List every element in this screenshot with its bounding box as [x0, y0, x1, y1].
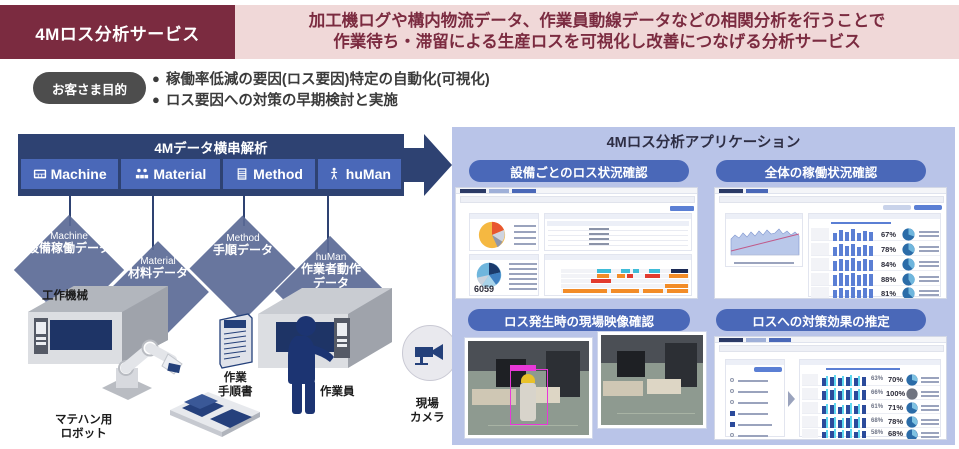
bar-chart-equipment [832, 287, 878, 298]
card-header [545, 255, 691, 260]
effect-after-value: 78% [888, 417, 903, 426]
camera-callout-bubble [402, 325, 458, 381]
objective-item-label: ロス要因への対策の早期検討と実施 [166, 91, 398, 112]
bullet-icon: ● [152, 91, 160, 110]
video-floor-marking [617, 413, 695, 423]
gantt-bar [627, 274, 633, 278]
checkbox-icon [730, 411, 735, 416]
legend-row [509, 268, 537, 270]
bar-chart-equipment [832, 273, 878, 286]
worker-illustration [282, 315, 338, 415]
gantt-bar [643, 289, 663, 293]
donut-chart-effect [906, 402, 918, 414]
equipment-row[interactable]: 88% [811, 272, 940, 286]
table-cell-chip [589, 243, 609, 245]
legend-row [921, 377, 939, 379]
gantt-row-band [561, 279, 689, 283]
effect-row[interactable]: 58% 68% [802, 429, 940, 438]
panel-caption-label: ロス発生時の現場映像確認 [504, 311, 654, 330]
app-tab[interactable] [769, 338, 791, 342]
analysis-button-material[interactable]: Material [121, 159, 220, 189]
equipment-row[interactable]: 78% [811, 242, 940, 256]
objective-list: ● 稼働率低減の要因(ロス要因)特定の自動化(可視化) ● ロス要因への対策の早… [152, 70, 652, 112]
donut-chart-effect [906, 416, 918, 428]
video-worktable [603, 381, 643, 396]
effect-after-value: 68% [888, 429, 903, 438]
legend-row [921, 395, 939, 397]
effect-before-value: 68% [871, 418, 883, 424]
legend-row [509, 263, 537, 265]
subtitle-line-1: 加工機ログや構内物流データ、作業員動線データなどの相関分析を行うことで [309, 11, 886, 32]
analysis-button-human[interactable]: huMan [318, 159, 401, 189]
video-camera-icon [413, 341, 447, 365]
row-label-block [811, 287, 829, 298]
card-header [726, 214, 802, 219]
machine-icon [33, 167, 47, 181]
row-label-block [811, 228, 829, 240]
legend-row [514, 225, 536, 227]
analysis-button-label: Machine [51, 166, 107, 182]
effect-before-value: 61% [871, 404, 883, 410]
factory-label-robot: マテハン用 ロボット [55, 400, 112, 441]
app-primary-button[interactable] [914, 205, 942, 210]
filter-option-selected[interactable] [730, 409, 782, 418]
equipment-row[interactable]: 67% [811, 227, 940, 241]
objective-pill: お客さま目的 [33, 72, 146, 104]
utilization-value: 67% [881, 230, 896, 239]
objective-item-label: 稼働率低減の要因(ロス要因)特定の自動化(可視化) [166, 70, 490, 91]
effect-before-value: 58% [871, 430, 883, 436]
gantt-bar [597, 274, 609, 278]
camera-frame-left[interactable] [465, 338, 592, 438]
panel-caption-effect-estimation[interactable]: ロスへの対策効果の推定 [716, 309, 926, 331]
table-card-loss-list [544, 213, 692, 251]
flow-arrow-icon [788, 391, 795, 407]
right-arrow-icon [396, 134, 452, 196]
utilization-value: 88% [881, 275, 896, 284]
row-label-block [802, 416, 818, 427]
camera-frame-right[interactable] [598, 332, 706, 428]
app-action-button[interactable] [883, 205, 911, 210]
factory-label-text: 作業員 [320, 386, 355, 398]
filter-apply-button[interactable] [754, 367, 782, 372]
bar-chart-before-after [821, 374, 869, 386]
legend-row [921, 419, 939, 421]
method-icon [235, 167, 249, 181]
legend-row [514, 231, 536, 233]
legend-row [831, 222, 891, 224]
legend-row [919, 246, 939, 248]
legend-row [514, 243, 536, 245]
factory-label-manual: 作業 手順書 [218, 358, 253, 399]
subtitle-line-2: 作業待ち・滞留による生産ロスを可視化し改善につなげる分析サービス [333, 32, 861, 53]
donut-chart-equipment [902, 273, 915, 286]
filter-option-selected[interactable] [730, 420, 782, 429]
legend-row [509, 273, 537, 275]
card-header [470, 214, 538, 219]
chart-card-utilization-trend [725, 213, 803, 267]
service-title-text: 4Mロス分析サービス [35, 20, 200, 45]
legend-row [921, 409, 939, 411]
card-header [809, 214, 940, 219]
panel-caption-camera-playback[interactable]: ロス発生時の現場映像確認 [468, 309, 690, 331]
legend-row [921, 423, 939, 425]
table-header-row [547, 221, 689, 226]
radio-icon [730, 378, 734, 382]
effect-after-value: 70% [888, 375, 903, 384]
results-card-effect: 63% 70% 66% 100% [799, 359, 941, 437]
objective-item: ● ロス要因への対策の早期検討と実施 [152, 91, 652, 112]
service-subtitle: 加工機ログや構内物流データ、作業員動線データなどの相関分析を行うことで 作業待ち… [235, 5, 959, 59]
bullet-icon: ● [152, 70, 160, 89]
app-tab[interactable] [746, 189, 768, 193]
factory-label-text: 作業 手順書 [218, 372, 253, 398]
effect-row[interactable]: 66% 100% [802, 387, 940, 400]
row-label-block [802, 429, 818, 438]
app-tab[interactable] [489, 189, 509, 193]
table-row [548, 235, 688, 236]
panel-caption-label: ロスへの対策効果の推定 [752, 311, 890, 330]
legend-row [509, 288, 537, 290]
objective-pill-label: お客さま目的 [52, 79, 127, 98]
app-tab[interactable] [746, 338, 766, 342]
gantt-card-loss-timeline [544, 254, 692, 296]
app-filter-bar[interactable] [719, 196, 944, 203]
factory-label-text: 現場 カメラ [410, 398, 445, 424]
legend-row [509, 278, 537, 280]
filter-option[interactable] [730, 431, 782, 440]
panel-caption-overall-utilization[interactable]: 全体の稼働状況確認 [716, 160, 926, 182]
connector-stem [152, 196, 154, 250]
donut-chart-equipment [902, 243, 915, 256]
factory-label-text: 工作機械 [42, 290, 88, 302]
area-chart-utilization [729, 221, 801, 261]
effect-after-value: 100% [886, 389, 905, 398]
donut-chart-equipment [902, 287, 915, 299]
app-filter-bar[interactable] [719, 345, 944, 352]
chart-card-operation-breakdown: 6059 [469, 254, 539, 296]
legend-row [921, 381, 939, 383]
legend-row [826, 368, 900, 370]
table-cell-chip [589, 238, 609, 240]
donut-chart-equipment [902, 258, 915, 271]
donut-chart-effect [906, 374, 918, 386]
service-title-badge: 4Mロス分析サービス [0, 5, 235, 59]
row-label-block [811, 258, 829, 270]
legend-row [921, 391, 939, 393]
legend-row [921, 436, 939, 438]
analysis-title: 4Mデータ横串解析 [18, 137, 404, 157]
gantt-bar [617, 274, 625, 278]
table-cell-chip [589, 228, 609, 230]
legend-row [919, 265, 939, 267]
app-tab-active[interactable] [460, 189, 486, 193]
filter-option[interactable] [730, 376, 782, 385]
video-worktable [647, 379, 681, 394]
equipment-row[interactable]: 84% [811, 257, 940, 271]
legend-row [919, 261, 939, 263]
gantt-bar [563, 289, 607, 293]
radio-icon [730, 389, 734, 393]
row-label-block [802, 402, 818, 413]
analysis-button-label: huMan [346, 166, 391, 182]
objective-item: ● 稼働率低減の要因(ロス要因)特定の自動化(可視化) [152, 70, 652, 91]
utilization-value: 78% [881, 245, 896, 254]
effect-row[interactable]: 61% 71% [802, 401, 940, 414]
effect-after-value: 71% [888, 403, 903, 412]
panel-caption-loss-status[interactable]: 設備ごとのロス状況確認 [469, 160, 689, 182]
legend-row [919, 290, 939, 292]
effect-row[interactable]: 63% 70% [802, 373, 940, 386]
gantt-bar [645, 274, 660, 278]
filter-option-label [738, 402, 768, 404]
screenshot-effect-estimation[interactable]: 63% 70% 66% 100% [714, 336, 947, 440]
legend-row [921, 405, 939, 407]
pie-chart-loss [473, 220, 511, 250]
bar-chart-before-after [821, 429, 869, 438]
table-row [548, 230, 688, 231]
table-row [548, 240, 688, 241]
row-label-block [811, 273, 829, 285]
legend-row [919, 235, 939, 237]
analysis-button-group: Machine Material Method [21, 159, 401, 189]
gantt-bar [597, 269, 611, 273]
card-header [470, 255, 538, 260]
checkbox-icon [730, 422, 735, 427]
gantt-bar [667, 289, 688, 293]
analysis-button-method[interactable]: Method [223, 159, 314, 189]
factory-floor-video [468, 341, 589, 435]
filter-option-label [738, 435, 768, 437]
filter-option[interactable] [730, 387, 782, 396]
video-worker-helmet [521, 374, 535, 383]
app-tab-active[interactable] [719, 338, 743, 342]
video-worker-body [520, 383, 536, 421]
legend-row [919, 250, 939, 252]
legend-row [919, 276, 939, 278]
row-label-block [802, 374, 818, 385]
card-header [800, 360, 940, 365]
video-machine [617, 351, 645, 377]
legend-row [509, 283, 537, 285]
panel-caption-label: 全体の稼働状況確認 [765, 162, 878, 181]
app-tab-active[interactable] [719, 189, 743, 193]
bar-chart-before-after [821, 402, 869, 414]
analysis-button-label: Method [253, 166, 303, 182]
analysis-button-label: Material [153, 166, 206, 182]
filter-option-label [738, 391, 768, 393]
analysis-button-machine[interactable]: Machine [21, 159, 118, 189]
legend-row [919, 231, 939, 233]
row-label-block [802, 388, 818, 399]
bar-chart-equipment [832, 243, 878, 256]
app-export-button[interactable] [670, 206, 694, 211]
filter-option[interactable] [730, 398, 782, 407]
equipment-row[interactable]: 81% [811, 287, 940, 298]
factory-label-camera: 現場 カメラ [410, 384, 445, 425]
filter-option-label [738, 424, 772, 426]
chart-card-loss-breakdown [469, 213, 539, 251]
legend-row [919, 280, 939, 282]
legend-row [921, 432, 939, 434]
radio-icon [730, 433, 734, 437]
utilization-value: 84% [881, 260, 896, 269]
material-icon [135, 167, 149, 181]
kpi-value: 6059 [474, 284, 494, 294]
card-header [726, 360, 784, 365]
table-cell-chip [589, 233, 609, 235]
donut-chart-effect [906, 388, 918, 400]
filter-option-label [738, 413, 768, 415]
gantt-bar [633, 269, 639, 273]
panel-caption-label: 設備ごとのロス状況確認 [510, 162, 647, 181]
video-floor-marking [488, 425, 578, 437]
human-icon [328, 167, 342, 181]
detection-label [510, 365, 536, 371]
bar-chart-equipment [832, 228, 878, 241]
gantt-bar [649, 269, 660, 273]
bar-chart-before-after [821, 416, 869, 428]
gantt-bar [591, 279, 611, 283]
legend-row [514, 237, 536, 239]
row-label-block [811, 243, 829, 255]
legend-row [734, 262, 794, 264]
legend-row [919, 294, 939, 296]
list-card-equipment-utilization: 67% 78% [808, 213, 941, 297]
factory-label-text: マテハン用 ロボット [55, 414, 112, 440]
donut-chart-effect [906, 429, 918, 440]
gantt-bar [669, 274, 688, 278]
donut-chart-equipment [902, 228, 915, 241]
radio-icon [730, 400, 734, 404]
factory-floor-video [601, 335, 703, 425]
app-tab[interactable] [512, 189, 536, 193]
bar-chart-equipment [832, 258, 878, 271]
application-title: 4Mロス分析アプリケーション [452, 131, 955, 152]
utilization-value: 81% [881, 289, 896, 298]
effect-row[interactable]: 68% 78% [802, 415, 940, 428]
gantt-bar [611, 289, 639, 293]
app-filter-bar[interactable] [460, 196, 695, 203]
table-row [548, 245, 688, 246]
screenshot-loss-dashboard[interactable]: 6059 [455, 187, 698, 299]
factory-label-machine-tool: 工作機械 [42, 290, 88, 304]
filter-card-countermeasures [725, 359, 785, 437]
card-header [545, 214, 691, 219]
bar-chart-before-after [821, 388, 869, 400]
gantt-bar [671, 269, 688, 273]
gantt-bar [621, 269, 630, 273]
factory-label-worker: 作業員 [320, 386, 355, 400]
effect-before-value: 63% [871, 376, 883, 382]
gantt-bar [665, 284, 688, 288]
screenshot-utilization-dashboard[interactable]: 67% 78% [714, 187, 947, 299]
filter-option-label [738, 380, 768, 382]
effect-before-value: 66% [871, 390, 883, 396]
